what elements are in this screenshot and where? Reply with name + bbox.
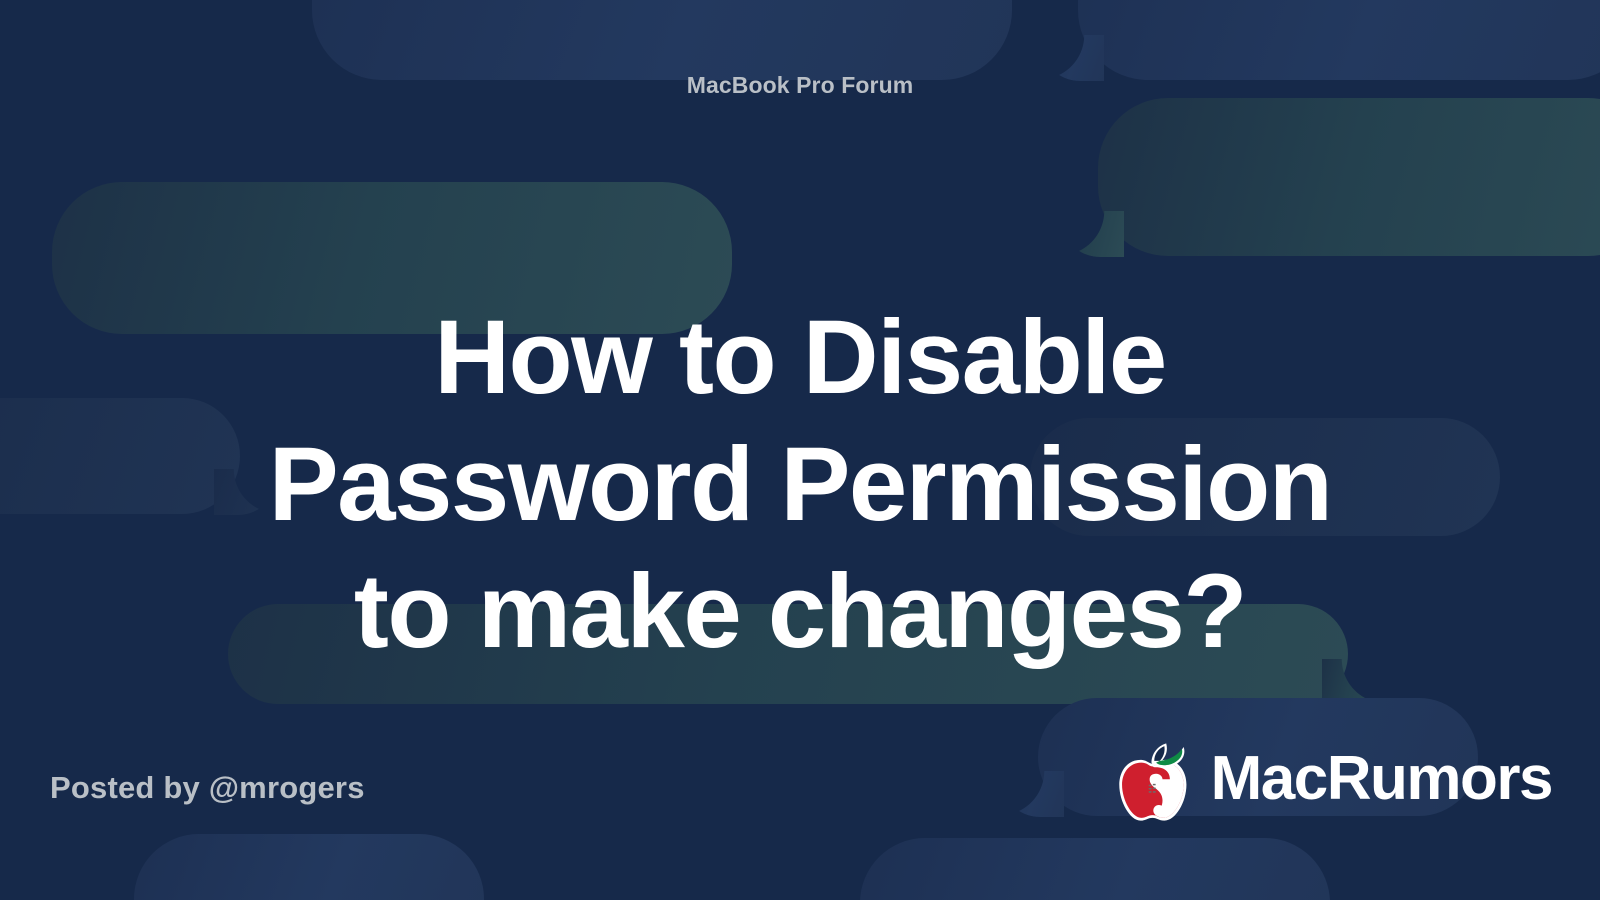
macrumors-apple-question-mark-icon: [1111, 736, 1203, 828]
forum-label: MacBook Pro Forum: [0, 72, 1600, 99]
page-title: How to Disable Password Permission to ma…: [80, 294, 1520, 675]
card-content: MacBook Pro Forum How to Disable Passwor…: [0, 0, 1600, 900]
posted-by-label: Posted by @mrogers: [50, 770, 365, 806]
brand-wordmark: MacRumors: [1211, 748, 1552, 816]
headline-line-2: Password Permission: [80, 421, 1520, 548]
macrumors-brand-lockup: MacRumors: [1111, 736, 1552, 828]
headline-line-3: to make changes?: [80, 548, 1520, 675]
headline-line-1: How to Disable: [80, 294, 1520, 421]
social-share-card: MacBook Pro Forum How to Disable Passwor…: [0, 0, 1600, 900]
